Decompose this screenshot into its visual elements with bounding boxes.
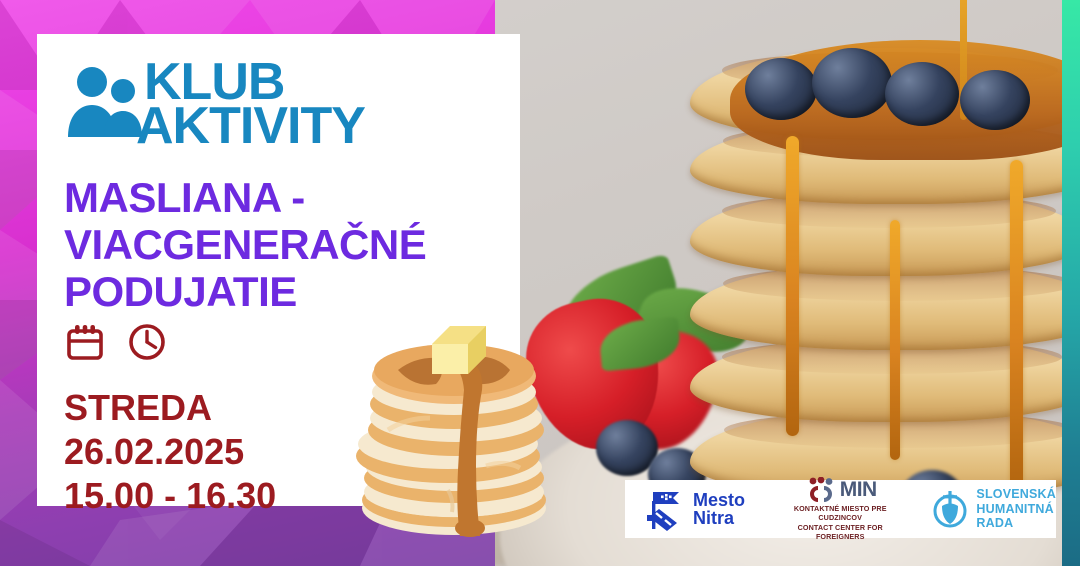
headline-line-1: MASLIANA - bbox=[64, 174, 504, 221]
blueberry bbox=[885, 62, 959, 126]
logo-mesto-nitra: Mesto Nitra bbox=[643, 487, 745, 531]
blueberry bbox=[745, 58, 817, 120]
event-date: 26.02.2025 bbox=[64, 430, 276, 474]
pancake-illustration bbox=[336, 312, 572, 538]
mesto-nitra-crest-icon bbox=[643, 487, 685, 531]
event-day: STREDA bbox=[64, 386, 276, 430]
blueberry bbox=[812, 48, 892, 118]
shr-line-1: SLOVENSKÁ bbox=[976, 487, 1056, 502]
min-subtitle-sk: KONTAKTNÉ MIESTO PRE CUDZINCOV bbox=[793, 504, 887, 523]
shr-line-2: HUMANITNÁ bbox=[976, 502, 1056, 517]
min-subtitle-en: CONTACT CENTER FOR FOREIGNERS bbox=[793, 523, 887, 542]
sponsor-logo-bar: Mesto Nitra MIN KONTAKTNÉ MIESTO bbox=[625, 480, 1056, 538]
headline-line-3: PODUJATIE bbox=[64, 268, 504, 315]
mesto-nitra-line-2: Nitra bbox=[693, 509, 745, 527]
syrup-drip bbox=[1010, 160, 1023, 490]
min-logo-icon bbox=[804, 477, 838, 503]
syrup-drip bbox=[890, 220, 900, 460]
clock-icon bbox=[127, 322, 167, 362]
klub-aktivity-logo: KLUB AKTIVITY bbox=[64, 59, 365, 151]
blueberry bbox=[960, 70, 1030, 130]
calendar-icon bbox=[65, 322, 105, 362]
event-poster: KLUB AKTIVITY MASLIANA - VIACGENERAČNÉ P… bbox=[0, 0, 1080, 566]
logo-min: MIN KONTAKTNÉ MIESTO PRE CUDZINCOV CONTA… bbox=[793, 477, 887, 542]
event-time: 15.00 - 16.30 bbox=[64, 474, 276, 518]
brand-line-2: AKTIVITY bbox=[136, 103, 365, 151]
min-word: MIN bbox=[840, 478, 877, 502]
shr-line-3: RADA bbox=[976, 516, 1056, 531]
syrup-drip bbox=[786, 136, 799, 436]
slovenska-humanitna-rada-icon bbox=[931, 489, 969, 529]
mesto-nitra-line-1: Mesto bbox=[693, 491, 745, 509]
event-datetime: STREDA 26.02.2025 15.00 - 16.30 bbox=[64, 386, 276, 518]
headline-line-2: VIACGENERAČNÉ bbox=[64, 221, 504, 268]
page-title: MASLIANA - VIACGENERAČNÉ PODUJATIE bbox=[64, 174, 504, 315]
teal-gradient-strip bbox=[1062, 0, 1080, 566]
logo-slovenska-humanitna-rada: SLOVENSKÁ HUMANITNÁ RADA bbox=[931, 487, 1056, 531]
event-meta-icons bbox=[65, 322, 167, 362]
